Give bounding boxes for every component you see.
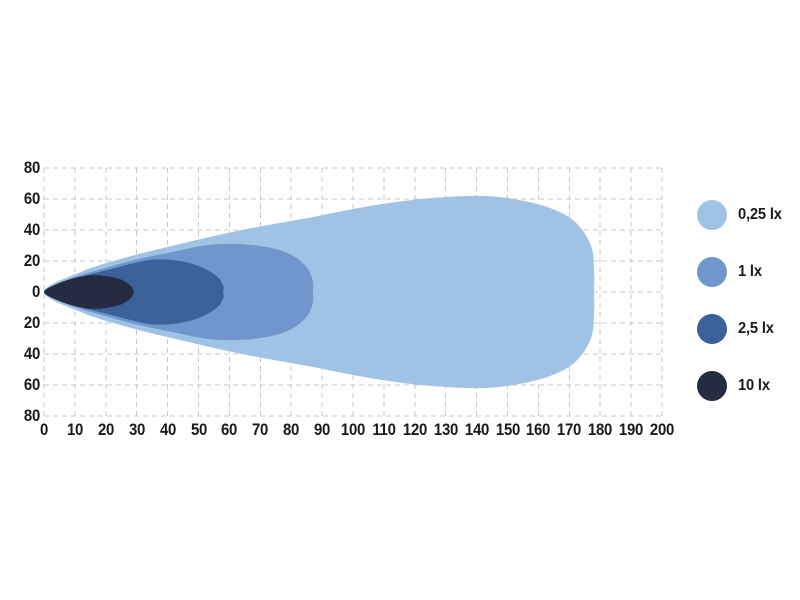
legend-item: 2,5 lx xyxy=(697,300,797,357)
legend-item: 0,25 lx xyxy=(697,186,797,243)
x-axis-tick-label: 140 xyxy=(465,421,489,438)
x-axis-tick-label: 110 xyxy=(372,421,395,438)
x-axis-tick-label: 160 xyxy=(526,421,550,438)
x-axis-tick-label: 40 xyxy=(160,421,176,438)
legend-color-swatch-icon xyxy=(697,200,727,230)
light-distribution-diagram: 80604020020406080 0102030405060708090100… xyxy=(0,0,800,600)
x-axis-tick-label: 100 xyxy=(341,421,365,438)
x-axis-tick-label: 190 xyxy=(619,421,643,438)
x-axis-tick-label: 70 xyxy=(252,421,268,438)
x-axis-tick-label: 180 xyxy=(588,421,612,438)
chart-figure: 80604020020406080 0102030405060708090100… xyxy=(0,0,800,600)
legend-item-label: 1 lx xyxy=(738,263,762,281)
legend-item-label: 10 lx xyxy=(738,377,770,395)
legend-color-swatch-icon xyxy=(697,314,727,344)
x-axis-tick-label: 130 xyxy=(434,421,458,438)
x-axis-tick-label: 90 xyxy=(314,421,330,438)
x-axis-tick-label: 30 xyxy=(129,421,145,438)
x-axis-tick-label: 0 xyxy=(40,421,48,438)
x-axis-tick-label: 200 xyxy=(650,421,674,438)
x-axis-tick-label: 80 xyxy=(283,421,299,438)
x-axis-tick-label: 60 xyxy=(221,421,237,438)
x-axis: 0102030405060708090100110120130140150160… xyxy=(0,0,800,600)
x-axis-tick-label: 150 xyxy=(495,421,519,438)
legend-item: 10 lx xyxy=(697,357,797,414)
legend-color-swatch-icon xyxy=(697,371,727,401)
x-axis-tick-label: 120 xyxy=(403,421,427,438)
legend-item-label: 2,5 lx xyxy=(738,320,774,338)
legend: 0,25 lx1 lx2,5 lx10 lx xyxy=(697,186,797,414)
x-axis-tick-label: 50 xyxy=(190,421,206,438)
x-axis-tick-label: 20 xyxy=(98,421,114,438)
x-axis-tick-label: 10 xyxy=(67,421,83,438)
legend-item-label: 0,25 lx xyxy=(738,206,782,224)
legend-item: 1 lx xyxy=(697,243,797,300)
x-axis-tick-label: 170 xyxy=(557,421,581,438)
legend-color-swatch-icon xyxy=(697,257,727,287)
